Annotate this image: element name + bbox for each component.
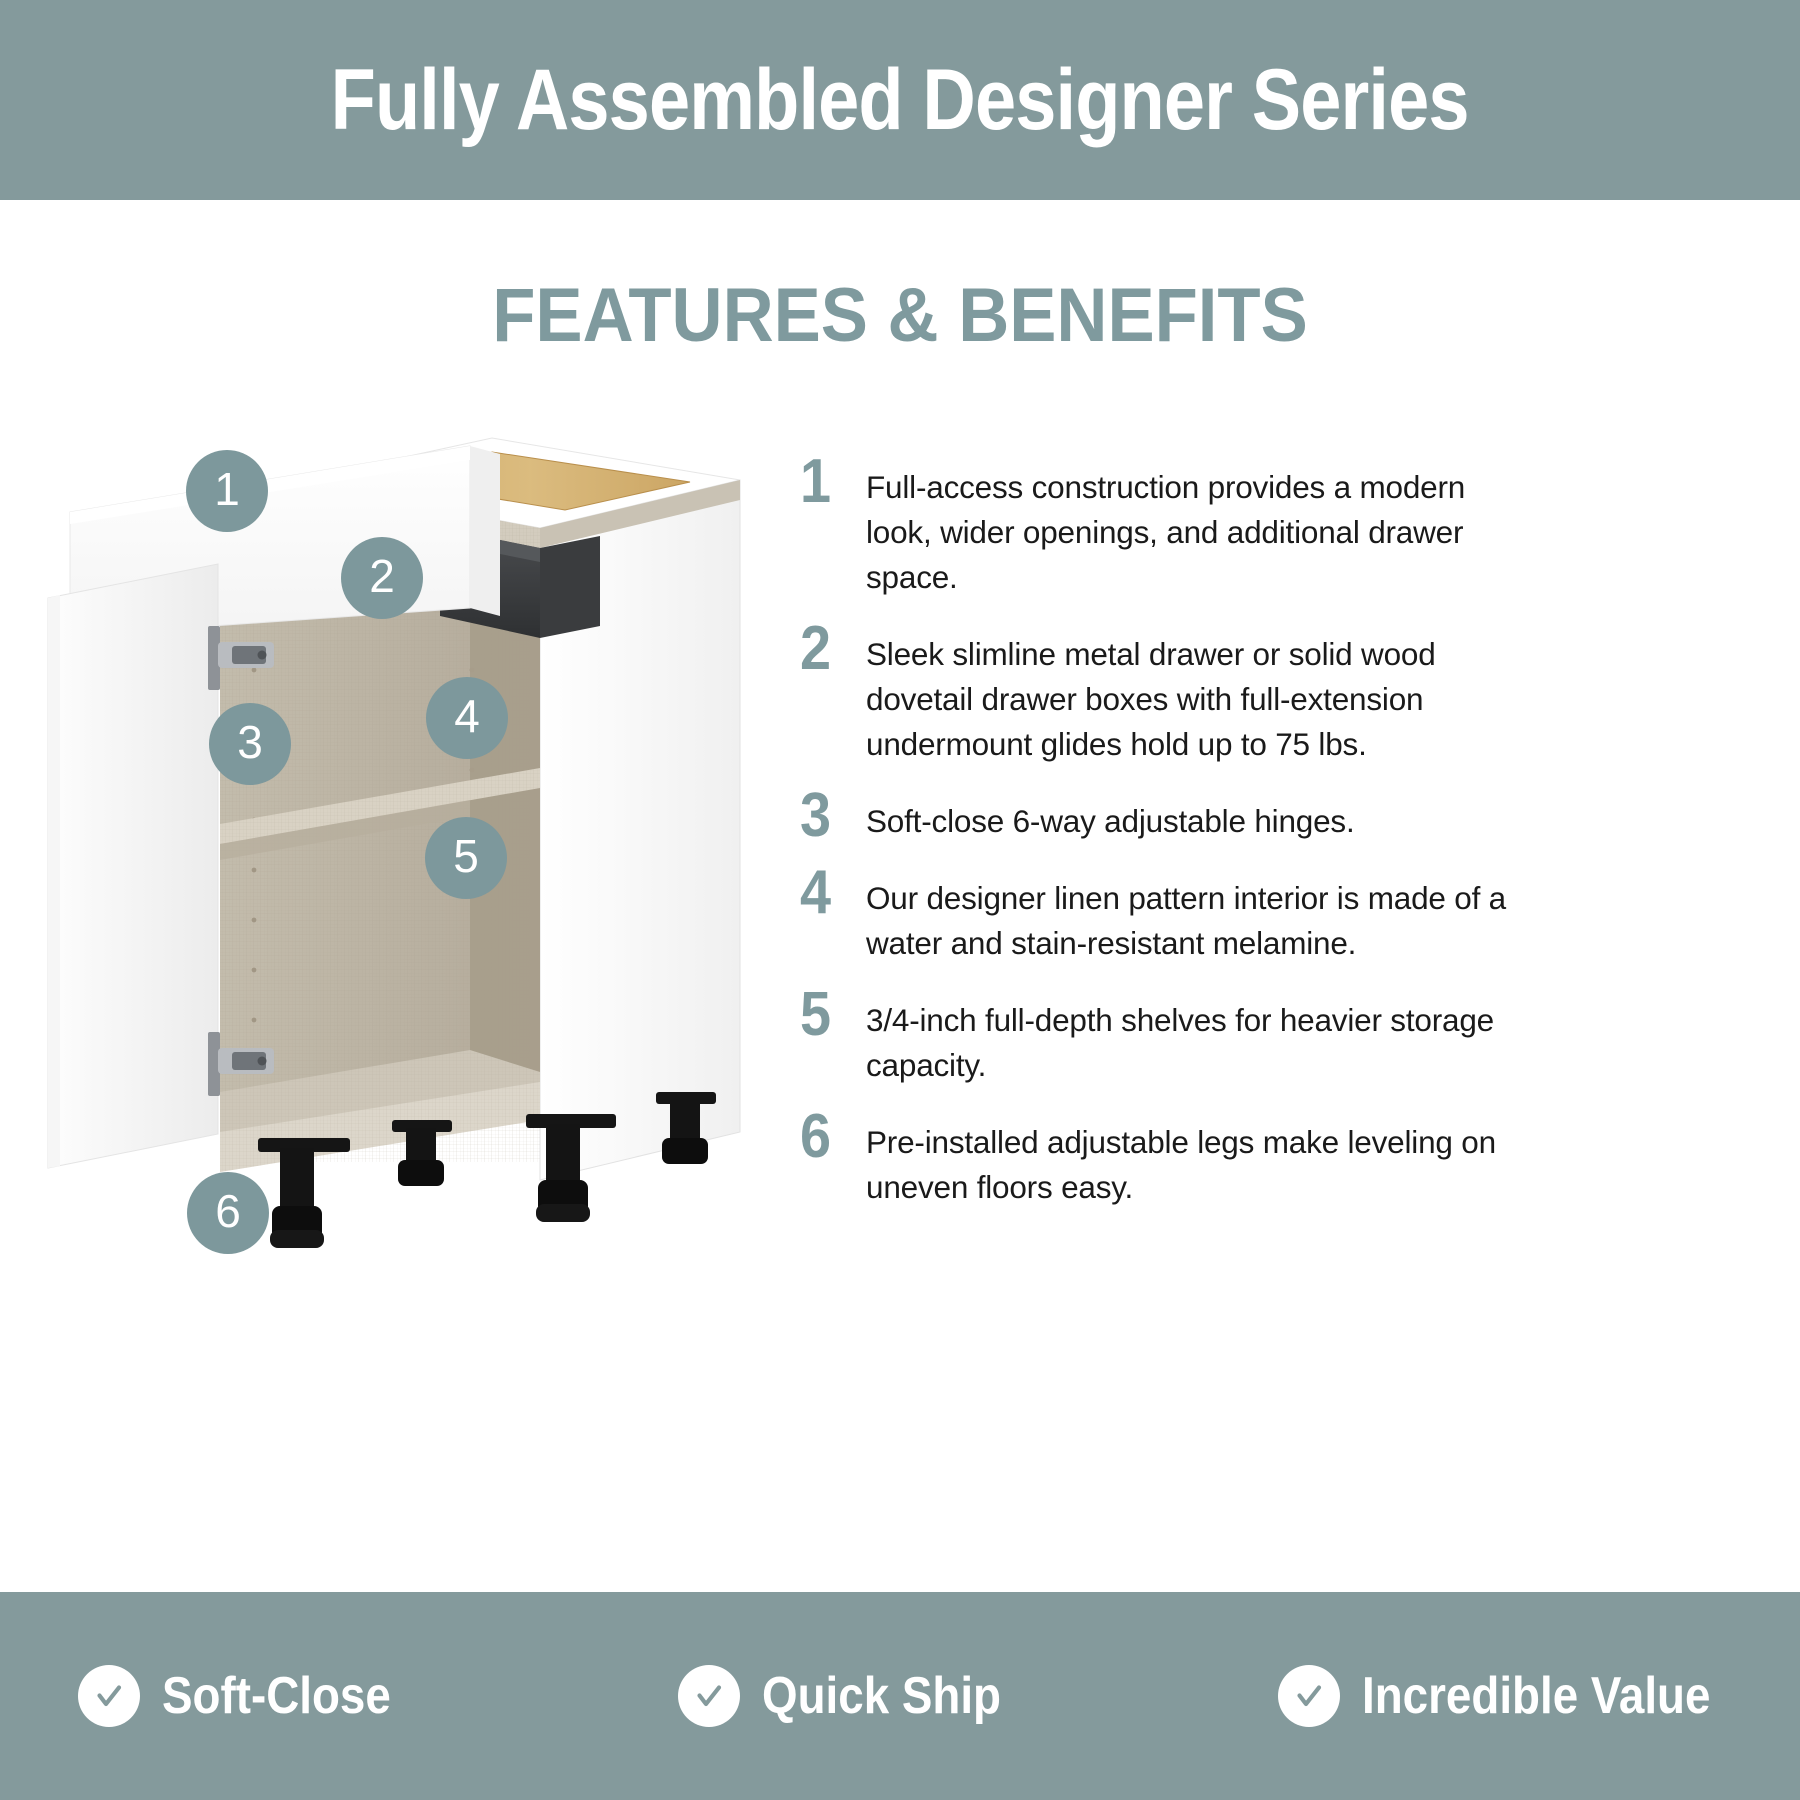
- feature-text-4: Our designer linen pattern interior is m…: [866, 866, 1530, 966]
- callout-badge-6-label: 6: [215, 1188, 241, 1234]
- feature-text-1: Full-access construction provides a mode…: [866, 455, 1530, 600]
- feature-text-2: Sleek slimline metal drawer or solid woo…: [866, 622, 1530, 767]
- callout-badge-1-label: 1: [214, 466, 240, 512]
- cabinet-door: [48, 564, 218, 1168]
- feature-number-6: 6: [800, 1110, 859, 1165]
- feature-text-3: Soft-close 6-way adjustable hinges.: [866, 789, 1530, 844]
- callout-badge-2-label: 2: [369, 553, 395, 599]
- check-icon: [78, 1665, 140, 1727]
- feature-item-5: 5 3/4-inch full-depth shelves for heavie…: [800, 988, 1530, 1088]
- features-list: 1 Full-access construction provides a mo…: [800, 455, 1530, 1232]
- feature-number-1: 1: [800, 455, 859, 510]
- feature-number-5: 5: [800, 988, 859, 1043]
- marketing-infographic: Fully Assembled Designer Series FEATURES…: [0, 0, 1800, 1800]
- callout-badge-6: 6: [187, 1172, 269, 1254]
- feature-text-6: Pre-installed adjustable legs make level…: [866, 1110, 1530, 1210]
- feature-item-6: 6 Pre-installed adjustable legs make lev…: [800, 1110, 1530, 1210]
- section-title: FEATURES & BENEFITS: [63, 278, 1737, 354]
- footer-label-soft-close: Soft-Close: [162, 1670, 391, 1722]
- feature-text-5: 3/4-inch full-depth shelves for heavier …: [866, 988, 1530, 1088]
- check-icon: [1278, 1665, 1340, 1727]
- feature-item-3: 3 Soft-close 6-way adjustable hinges.: [800, 789, 1530, 844]
- callout-badge-3: 3: [209, 703, 291, 785]
- footer-benefit-soft-close: Soft-Close: [0, 1665, 600, 1727]
- callout-badge-1: 1: [186, 450, 268, 532]
- footer-label-quick-ship: Quick Ship: [762, 1670, 1001, 1722]
- footer-benefit-quick-ship: Quick Ship: [600, 1665, 1200, 1727]
- callout-badge-4: 4: [426, 677, 508, 759]
- feature-number-4: 4: [800, 866, 859, 921]
- cabinet-drawing: [40, 420, 800, 1340]
- callout-badge-4-label: 4: [454, 693, 480, 739]
- check-icon: [678, 1665, 740, 1727]
- callout-badge-2: 2: [341, 537, 423, 619]
- feature-item-4: 4 Our designer linen pattern interior is…: [800, 866, 1530, 966]
- feature-number-3: 3: [800, 789, 859, 844]
- callout-badge-5-label: 5: [453, 833, 479, 879]
- footer-label-incredible-value: Incredible Value: [1362, 1670, 1710, 1722]
- product-illustration: 1 2 3 4 5 6: [40, 420, 800, 1340]
- feature-item-2: 2 Sleek slimline metal drawer or solid w…: [800, 622, 1530, 767]
- drawer-box-side: [540, 536, 600, 638]
- callout-badge-3-label: 3: [237, 719, 263, 765]
- callout-badge-5: 5: [425, 817, 507, 899]
- footer-benefit-incredible-value: Incredible Value: [1200, 1665, 1800, 1727]
- footer-band: Soft-Close Quick Ship Incredible Value: [0, 1592, 1800, 1800]
- header-band: Fully Assembled Designer Series: [0, 0, 1800, 200]
- feature-item-1: 1 Full-access construction provides a mo…: [800, 455, 1530, 600]
- page-title: Fully Assembled Designer Series: [331, 57, 1469, 143]
- feature-number-2: 2: [800, 622, 859, 677]
